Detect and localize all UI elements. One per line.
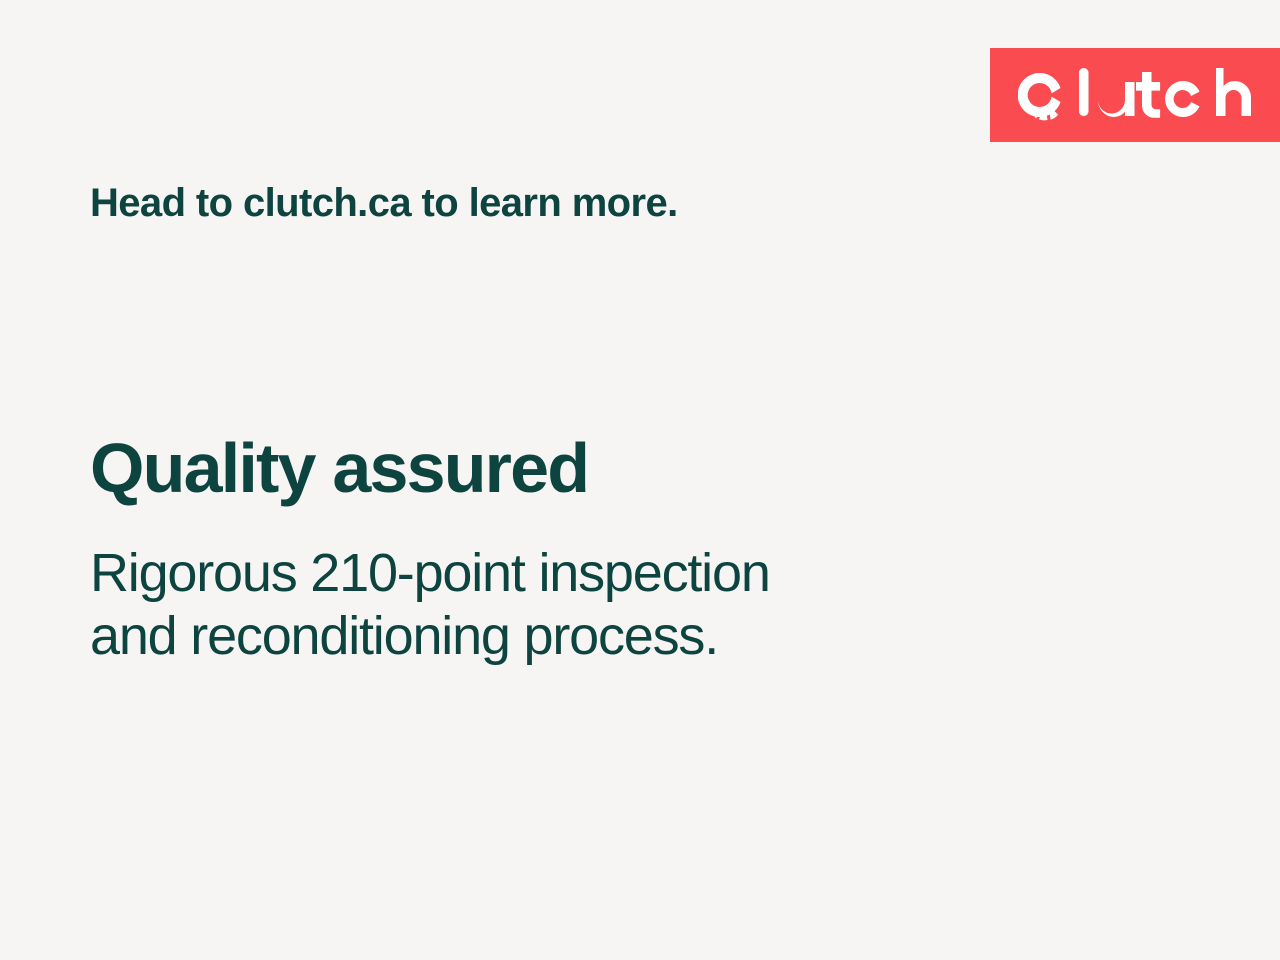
subcopy-line-2: and reconditioning process.	[90, 605, 770, 668]
brand-logo[interactable]	[990, 48, 1280, 142]
slide-canvas: Head to clutch.ca to learn more. Quality…	[0, 0, 1280, 960]
subcopy: Rigorous 210-point inspection and recond…	[90, 542, 770, 667]
kicker-text: Head to clutch.ca to learn more.	[90, 180, 678, 226]
headline: Quality assured	[90, 432, 588, 505]
clutch-wordmark-icon	[1018, 66, 1254, 124]
clutch-disc-c-icon	[1018, 73, 1061, 120]
subcopy-line-1: Rigorous 210-point inspection	[90, 542, 770, 605]
